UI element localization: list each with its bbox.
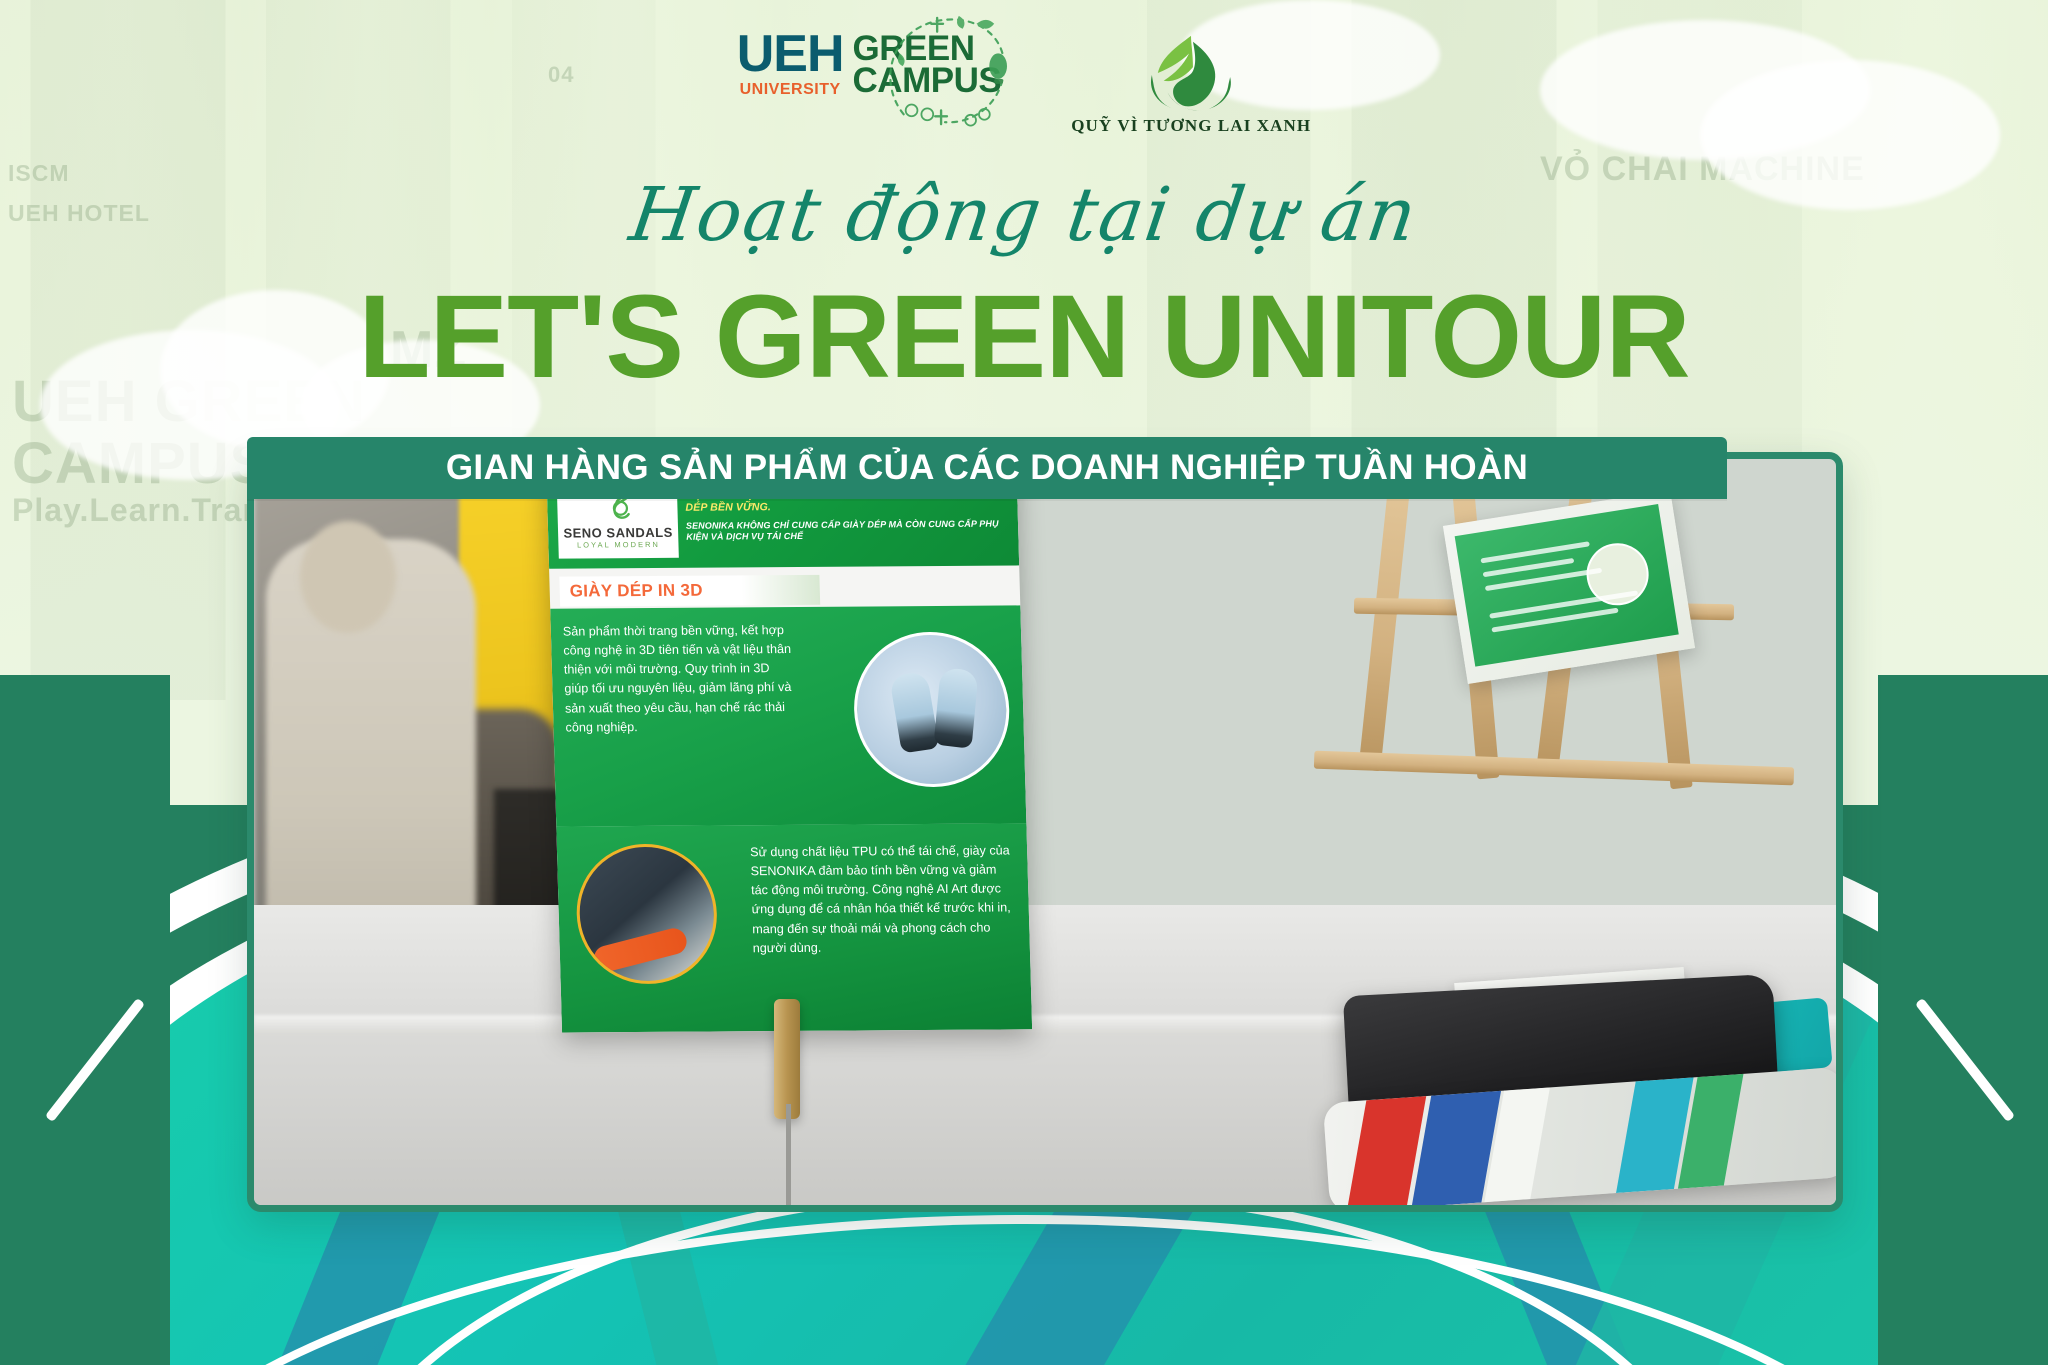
ueh-campus-label: CAMPUS bbox=[853, 65, 1002, 97]
event-photo: SENO SANDALS LOYAL MODERN THƯƠNG HIỆU GI… bbox=[247, 452, 1843, 1212]
poster-photo-shoes bbox=[852, 631, 1011, 787]
poster-photo-material bbox=[575, 843, 719, 984]
logo-row: UEH UNIVERSITY GREEN CAMPUS bbox=[0, 30, 2048, 145]
orange-sandal-strap bbox=[591, 926, 690, 975]
ueh-university-label: UNIVERSITY bbox=[740, 81, 841, 99]
poster-canvas: ISCM UEH HOTEL UEH GREEN CAMPUS GAME Pla… bbox=[0, 0, 2048, 1365]
poster-body-text-1: Sản phẩm thời trang bền vững, kết hợp cô… bbox=[563, 621, 796, 737]
deco-side-right bbox=[1878, 675, 2048, 1365]
quy-vi-tuong-lai-xanh-logo: QUỸ VÌ TƯƠNG LAI XANH bbox=[1071, 32, 1311, 136]
ueh-green-label: GREEN bbox=[853, 33, 1002, 65]
shoe-left bbox=[889, 671, 940, 754]
subtitle-banner: GIAN HÀNG SẢN PHẨM CỦA CÁC DOANH NGHIỆP … bbox=[247, 437, 1727, 499]
subtitle-banner-text: GIAN HÀNG SẢN PHẨM CỦA CÁC DOANH NGHIỆP … bbox=[446, 448, 1528, 488]
poster-section-title-text: GIÀY DÉP IN 3D bbox=[569, 581, 703, 602]
seno-sandals-tagline: LOYAL MODERN bbox=[577, 539, 660, 549]
poster-body-text-2: Sử dụng chất liệu TPU có thể tái chế, gi… bbox=[750, 841, 1018, 958]
page-title: LET'S GREEN UNITOUR bbox=[0, 278, 2048, 396]
green-leaf-icon bbox=[1132, 32, 1250, 112]
script-headline: Hoạt động tại dự án bbox=[0, 172, 2048, 258]
seno-sandals-name: SENO SANDALS bbox=[563, 524, 673, 540]
ueh-wordmark: UEH bbox=[737, 30, 844, 79]
poster-subheadline: SENONIKA KHÔNG CHỈ CUNG CẤP GIÀY DÉP MÀ … bbox=[686, 519, 1011, 543]
poster-body-block-1: Sản phẩm thời trang bền vững, kết hợp cô… bbox=[550, 605, 1026, 826]
shoe-right bbox=[934, 667, 979, 749]
ueh-green-campus-logo: UEH UNIVERSITY GREEN CAMPUS bbox=[737, 30, 1001, 99]
photo-person-head bbox=[300, 521, 396, 633]
poster-section-title: GIÀY DÉP IN 3D bbox=[559, 575, 820, 607]
deco-side-left bbox=[0, 675, 170, 1365]
photo-wood-leg bbox=[1358, 471, 1411, 772]
photo-poster-clip bbox=[774, 999, 800, 1119]
quy-vi-tuong-lai-xanh-caption: QUỸ VÌ TƯƠNG LAI XANH bbox=[1071, 116, 1311, 136]
photo-product-poster: SENO SANDALS LOYAL MODERN THƯƠNG HIỆU GI… bbox=[546, 459, 1032, 1033]
photo-poster-stand bbox=[786, 1104, 791, 1205]
